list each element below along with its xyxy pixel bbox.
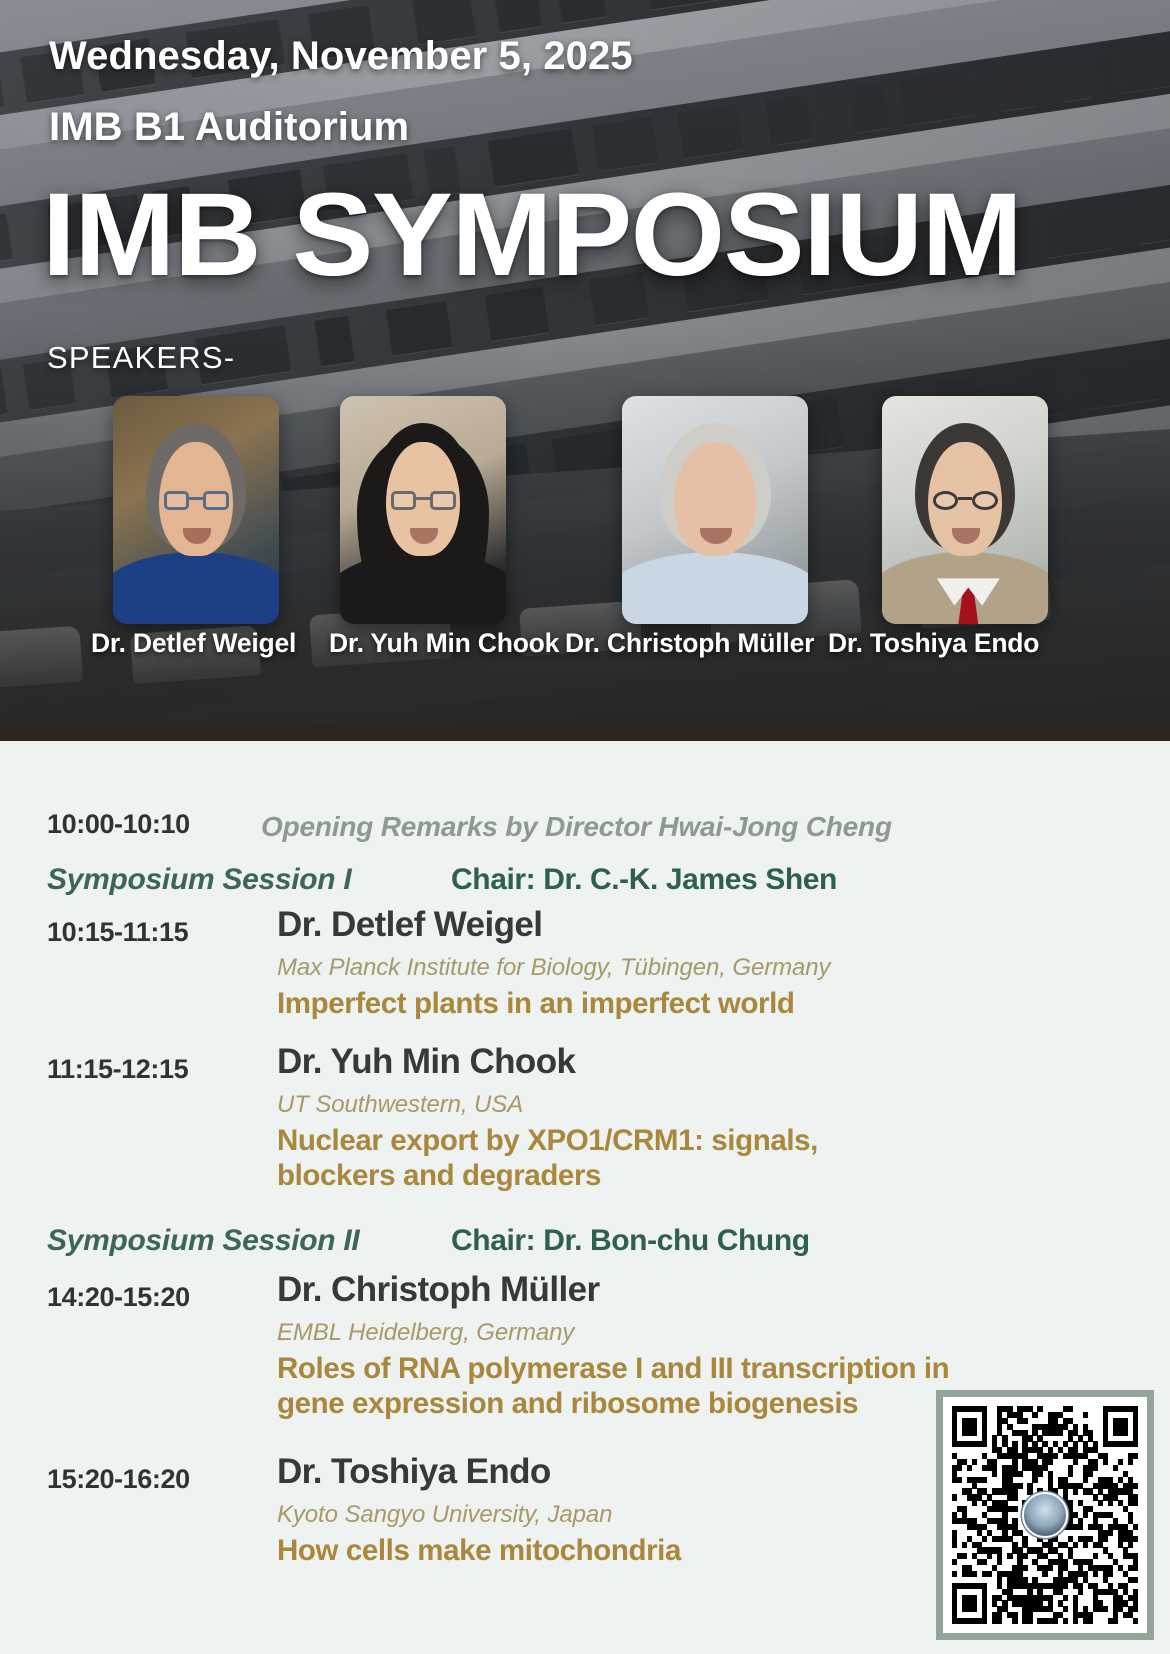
symposium-poster: Wednesday, November 5, 2025 IMB B1 Audit… [0, 0, 1170, 1654]
speaker-name-0: Dr. Detlef Weigel [91, 628, 296, 659]
talk-speaker-1: Dr. Detlef Weigel [277, 905, 542, 945]
talk-title-2: Nuclear export by XPO1/CRM1: signals, bl… [277, 1124, 877, 1193]
qr-code-frame[interactable] [936, 1390, 1154, 1640]
talk-title-1: Imperfect plants in an imperfect world [277, 987, 795, 1022]
opening-remarks-text: Opening Remarks by Director Hwai-Jong Ch… [261, 811, 892, 843]
speaker-name-1: Dr. Yuh Min Chook [329, 628, 559, 659]
event-venue: IMB B1 Auditorium [49, 105, 409, 150]
speaker-portrait-muller [622, 396, 808, 624]
talk-time-3: 14:20-15:20 [47, 1282, 190, 1313]
speakers-label: SPEAKERS- [47, 340, 235, 376]
opening-time: 10:00-10:10 [47, 809, 190, 840]
hero-text-layer: Wednesday, November 5, 2025 IMB B1 Audit… [0, 0, 1170, 730]
speaker-portrait-weigel [113, 396, 279, 624]
session-chair-1: Chair: Dr. C.-K. James Shen [451, 863, 837, 897]
talk-affiliation-1: Max Planck Institute for Biology, Tübing… [277, 954, 830, 982]
session-label-2: Symposium Session II [47, 1224, 359, 1258]
imb-logo-icon [1022, 1492, 1068, 1538]
speaker-name-2: Dr. Christoph Müller [565, 628, 814, 659]
speaker-portrait-chook [340, 396, 506, 624]
speaker-portrait-endo [882, 396, 1048, 624]
talk-time-1: 10:15-11:15 [47, 917, 188, 948]
session-label-1: Symposium Session I [47, 863, 351, 897]
talk-time-2: 11:15-12:15 [47, 1054, 188, 1085]
talk-title-4: How cells make mitochondria [277, 1534, 681, 1569]
talk-time-4: 15:20-16:20 [47, 1464, 190, 1495]
speaker-name-3: Dr. Toshiya Endo [828, 628, 1039, 659]
hero-banner: Wednesday, November 5, 2025 IMB B1 Audit… [0, 0, 1170, 730]
talk-affiliation-4: Kyoto Sangyo University, Japan [277, 1501, 612, 1529]
talk-speaker-2: Dr. Yuh Min Chook [277, 1042, 575, 1082]
qr-code-icon [952, 1406, 1138, 1624]
talk-title-3: Roles of RNA polymerase I and III transc… [277, 1352, 987, 1421]
talk-speaker-3: Dr. Christoph Müller [277, 1270, 599, 1310]
session-chair-2: Chair: Dr. Bon-chu Chung [451, 1224, 810, 1258]
qr-code-inner [943, 1397, 1147, 1633]
poster-title: IMB SYMPOSIUM [42, 176, 1021, 294]
event-date: Wednesday, November 5, 2025 [49, 34, 633, 79]
talk-affiliation-2: UT Southwestern, USA [277, 1091, 523, 1119]
header-divider [0, 727, 1170, 741]
talk-speaker-4: Dr. Toshiya Endo [277, 1452, 551, 1492]
talk-affiliation-3: EMBL Heidelberg, Germany [277, 1319, 574, 1347]
